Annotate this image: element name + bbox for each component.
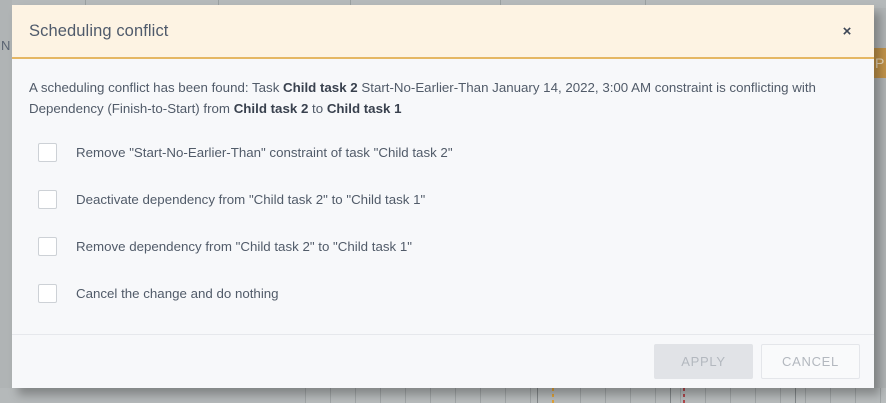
gantt-grid-line — [355, 388, 356, 403]
gantt-left-strip — [0, 0, 12, 403]
gantt-grid-line — [605, 388, 606, 403]
message-task-3: Child task 1 — [327, 101, 402, 116]
gantt-grid-line — [530, 388, 531, 403]
dialog-title: Scheduling conflict — [12, 22, 168, 41]
cancel-button[interactable]: CANCEL — [761, 344, 860, 379]
message-task-2: Child task 2 — [234, 101, 309, 116]
resolution-option-0[interactable]: Remove "Start-No-Earlier-Than" constrain… — [29, 139, 857, 165]
gantt-grid-line — [680, 388, 681, 403]
gantt-task-bar: P — [872, 48, 886, 78]
gantt-grid-cells — [0, 388, 305, 403]
gantt-marker-line — [552, 388, 554, 403]
gantt-grid-line-major — [795, 388, 796, 403]
message-part-3: to — [308, 101, 326, 116]
resolution-option-label: Remove "Start-No-Earlier-Than" constrain… — [76, 143, 453, 162]
gantt-grid-line — [880, 388, 881, 403]
gantt-grid-line — [655, 388, 656, 403]
gantt-grid-line — [330, 388, 331, 403]
checkbox-icon[interactable] — [38, 284, 57, 303]
resolution-option-3[interactable]: Cancel the change and do nothing — [29, 280, 857, 306]
gantt-grid-line — [430, 388, 431, 403]
message-task-1: Child task 2 — [283, 80, 358, 95]
gantt-grid-line — [705, 388, 706, 403]
gantt-grid-line — [580, 388, 581, 403]
gantt-grid-line — [755, 388, 756, 403]
checkbox-icon[interactable] — [38, 190, 57, 209]
resolution-option-label: Remove dependency from "Child task 2" to… — [76, 237, 412, 256]
gantt-grid-line — [630, 388, 631, 403]
gantt-grid-line — [730, 388, 731, 403]
gantt-grid-line-major — [537, 388, 538, 403]
gantt-grid-line — [455, 388, 456, 403]
resolution-option-2[interactable]: Remove dependency from "Child task 2" to… — [29, 233, 857, 259]
gantt-grid-line — [830, 388, 831, 403]
gantt-grid-line — [780, 388, 781, 403]
checkbox-icon[interactable] — [38, 237, 57, 256]
message-part-1: A scheduling conflict has been found: Ta… — [29, 80, 283, 95]
resolution-option-1[interactable]: Deactivate dependency from "Child task 2… — [29, 186, 857, 212]
conflict-message: A scheduling conflict has been found: Ta… — [29, 77, 849, 119]
scheduling-conflict-dialog: Scheduling conflict × A scheduling confl… — [12, 5, 874, 388]
gantt-grid-line — [405, 388, 406, 403]
apply-button[interactable]: APPLY — [654, 344, 753, 379]
resolution-options-list: Remove "Start-No-Earlier-Than" constrain… — [29, 139, 857, 306]
checkbox-icon[interactable] — [38, 143, 57, 162]
resolution-option-label: Cancel the change and do nothing — [76, 284, 279, 303]
gantt-grid-line — [855, 388, 856, 403]
dialog-header: Scheduling conflict × — [12, 5, 874, 59]
gantt-grid-line — [380, 388, 381, 403]
close-icon[interactable]: × — [836, 20, 858, 42]
gantt-grid-line-major — [670, 388, 671, 403]
gantt-column-letter: N — [1, 38, 12, 54]
gantt-grid-line — [480, 388, 481, 403]
gantt-grid-line — [805, 388, 806, 403]
resolution-option-label: Deactivate dependency from "Child task 2… — [76, 190, 425, 209]
dialog-body: A scheduling conflict has been found: Ta… — [12, 59, 874, 334]
gantt-grid-line — [305, 388, 306, 403]
gantt-grid-line — [505, 388, 506, 403]
dialog-footer: APPLY CANCEL — [12, 334, 874, 388]
gantt-marker-line — [683, 388, 685, 403]
